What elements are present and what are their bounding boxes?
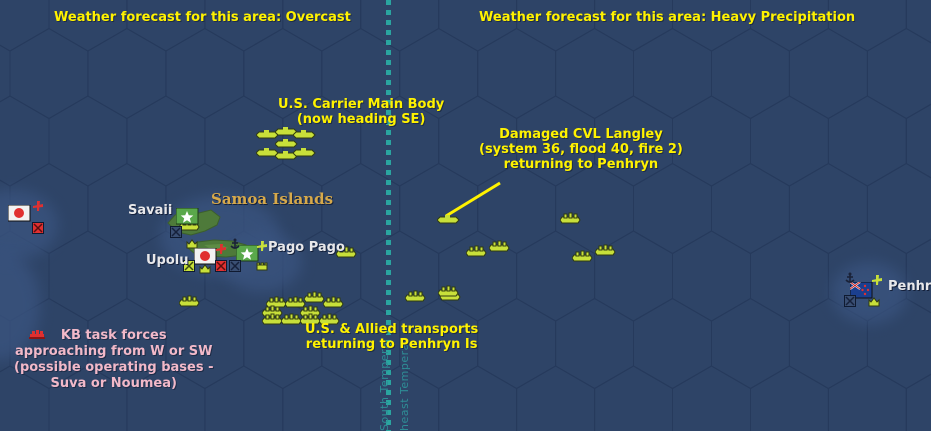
hex-cell[interactable]: [0, 96, 49, 186]
hex-cell[interactable]: [906, 0, 931, 51]
hex-cell[interactable]: [556, 164, 634, 254]
ship-icon-transport[interactable]: [489, 240, 510, 253]
counter-badge-x-grey-icon[interactable]: [229, 260, 242, 273]
hex-cell[interactable]: [517, 366, 595, 431]
hex-cell[interactable]: [88, 29, 166, 119]
japanese-base-counter-west[interactable]: [8, 205, 31, 222]
ship-icon-transport[interactable]: [466, 245, 487, 258]
hex-cell[interactable]: [595, 366, 673, 431]
counter-badge-crown-green-icon[interactable]: [199, 263, 212, 276]
place-label-upolu[interactable]: Upolu: [146, 253, 189, 268]
ship-icon-transport[interactable]: [323, 296, 344, 309]
dateline-label-right: heast Tempera: [398, 343, 411, 431]
ship-icon-warship[interactable]: [293, 146, 316, 159]
hex-cell[interactable]: [127, 0, 205, 51]
hex-cell[interactable]: [595, 0, 673, 51]
counter-badge-plane-red-icon[interactable]: [215, 243, 228, 256]
hex-cell[interactable]: [751, 366, 829, 431]
hex-cell[interactable]: [49, 231, 127, 321]
counter-badge-anchor-icon[interactable]: [844, 272, 857, 285]
hex-cell[interactable]: [517, 231, 595, 321]
annotation-us-carrier-main-body: U.S. Carrier Main Body (now heading SE): [278, 97, 444, 127]
hex-cell[interactable]: [789, 29, 867, 119]
annotation-kb-task-forces: KB task forces approaching from W or SW …: [14, 328, 214, 392]
hex-cell[interactable]: [634, 299, 712, 389]
counter-badge-crown-green-icon[interactable]: [186, 238, 199, 251]
hex-cell[interactable]: [361, 0, 439, 51]
ship-icon-transport[interactable]: [572, 250, 593, 263]
hex-cell[interactable]: [673, 96, 751, 186]
ship-icon-transport[interactable]: [595, 244, 616, 257]
counter-badge-x-grey-icon[interactable]: [844, 295, 857, 308]
allied-base-counter-savaii[interactable]: [176, 208, 199, 225]
ship-icon-transport[interactable]: [438, 285, 459, 298]
dateline-label-left: South Tempera: [378, 342, 391, 431]
hex-cell[interactable]: [673, 366, 751, 431]
region-label-samoa-islands: Samoa Islands: [211, 190, 333, 208]
ship-icon-transport[interactable]: [405, 290, 426, 303]
hex-cell[interactable]: [166, 29, 244, 119]
hex-cell[interactable]: [205, 96, 283, 186]
place-label-savaii[interactable]: Savaii: [128, 203, 172, 218]
ship-icon-transport[interactable]: [560, 212, 581, 225]
hex-cell[interactable]: [867, 29, 931, 119]
hex-cell[interactable]: [0, 0, 49, 51]
hex-cell[interactable]: [712, 164, 790, 254]
counter-badge-anchor-icon[interactable]: [229, 238, 242, 251]
counter-badge-crown-green-icon[interactable]: [868, 296, 881, 309]
hex-cell[interactable]: [478, 299, 556, 389]
hex-cell[interactable]: [828, 0, 906, 51]
hex-cell[interactable]: [906, 96, 931, 186]
ship-icon-transport[interactable]: [262, 313, 283, 326]
annotation-us-allied-transports: U.S. & Allied transports returning to Pe…: [305, 322, 478, 352]
counter-badge-plane-green-icon[interactable]: [871, 274, 884, 287]
hex-cell[interactable]: [439, 0, 517, 51]
hex-cell[interactable]: [0, 29, 10, 119]
hex-cell[interactable]: [751, 96, 829, 186]
hex-cell[interactable]: [673, 231, 751, 321]
hex-cell[interactable]: [789, 164, 867, 254]
counter-badge-x-red-icon[interactable]: [32, 222, 45, 235]
hex-cell[interactable]: [712, 29, 790, 119]
hex-cell[interactable]: [49, 0, 127, 51]
hex-cell[interactable]: [439, 366, 517, 431]
counter-badge-x-red-icon[interactable]: [215, 260, 228, 273]
counter-badge-fort-icon[interactable]: [256, 260, 269, 273]
hex-cell[interactable]: [283, 366, 361, 431]
hex-map-canvas[interactable]: South Tempera heast Tempera Weather fore…: [0, 0, 931, 431]
hex-cell[interactable]: [556, 29, 634, 119]
hex-cell[interactable]: [634, 164, 712, 254]
hex-cell[interactable]: [906, 231, 931, 321]
hex-cell[interactable]: [478, 29, 556, 119]
hex-cell[interactable]: [10, 29, 88, 119]
weather-forecast-west: Weather forecast for this area: Overcast: [54, 10, 351, 25]
ship-icon-transport[interactable]: [179, 295, 200, 308]
hex-cell[interactable]: [127, 96, 205, 186]
ship-icon-warship[interactable]: [437, 213, 460, 226]
hex-cell[interactable]: [49, 96, 127, 186]
place-label-penhryn[interactable]: Penhryn: [888, 279, 931, 294]
counter-badge-plane-red-icon[interactable]: [32, 200, 45, 213]
hex-cell[interactable]: [712, 299, 790, 389]
hex-cell[interactable]: [828, 366, 906, 431]
hex-cell[interactable]: [867, 164, 931, 254]
hex-cell[interactable]: [517, 0, 595, 51]
hex-cell[interactable]: [283, 0, 361, 51]
hex-cell[interactable]: [906, 366, 931, 431]
hex-cell[interactable]: [205, 0, 283, 51]
place-label-pago-pago[interactable]: Pago Pago: [268, 240, 345, 255]
hex-cell[interactable]: [556, 299, 634, 389]
hex-cell[interactable]: [828, 96, 906, 186]
hex-cell[interactable]: [361, 231, 439, 321]
ship-icon-transport[interactable]: [281, 313, 302, 326]
weather-forecast-east: Weather forecast for this area: Heavy Pr…: [479, 10, 855, 25]
hex-cell[interactable]: [205, 366, 283, 431]
hex-cell[interactable]: [751, 231, 829, 321]
ship-icon-transport[interactable]: [304, 291, 325, 304]
counter-badge-x-grey-icon[interactable]: [170, 226, 183, 239]
hex-cell[interactable]: [673, 0, 751, 51]
hex-cell[interactable]: [634, 29, 712, 119]
hex-cell[interactable]: [751, 0, 829, 51]
annotation-damaged-cvl-langley: Damaged CVL Langley (system 36, flood 40…: [479, 127, 683, 172]
